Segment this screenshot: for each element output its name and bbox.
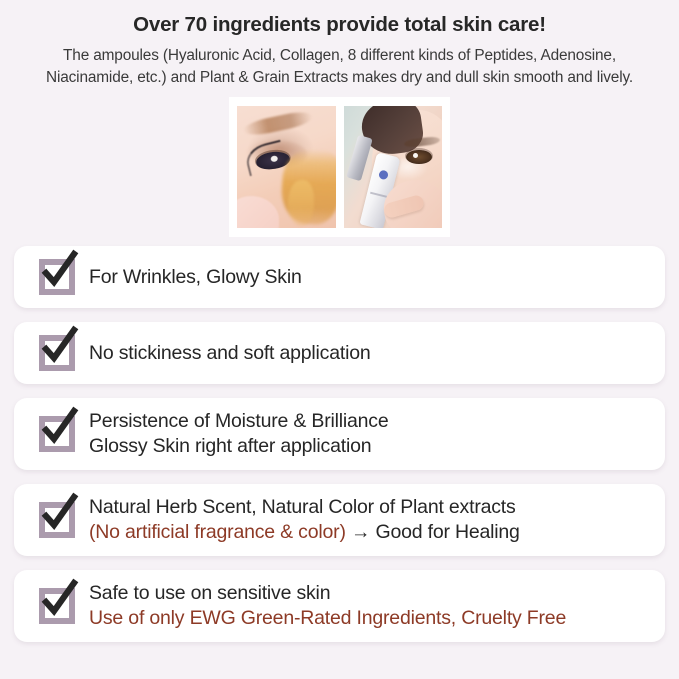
feature-line-2-accent: (No artificial fragrance & color) (89, 521, 346, 543)
feature-line-1: For Wrinkles, Glowy Skin (89, 265, 302, 290)
checkbox-checked-icon (39, 335, 75, 371)
product-photo-eye-closeup (237, 106, 336, 228)
feature-line-1: Safe to use on sensitive skin (89, 581, 566, 606)
feature-card-sensitive-skin[interactable]: Safe to use on sensitive skin Use of onl… (14, 570, 665, 642)
feature-text: Safe to use on sensitive skin Use of onl… (89, 581, 566, 631)
checkbox-checked-icon (39, 588, 75, 624)
feature-line-1: No stickiness and soft application (89, 341, 371, 366)
bottle-logo-dot (378, 169, 389, 180)
feature-line-1: Natural Herb Scent, Natural Color of Pla… (89, 495, 520, 520)
product-photo-model-applying (344, 106, 443, 228)
eyebrow-shape (242, 109, 314, 138)
subcopy-line-1: The ampoules (Hyaluronic Acid, Collagen,… (30, 45, 649, 67)
feature-text: For Wrinkles, Glowy Skin (89, 265, 302, 290)
feature-text: Persistence of Moisture & Brilliance Glo… (89, 409, 389, 459)
bottle-label-band (370, 192, 387, 198)
checkbox-checked-icon (39, 416, 75, 452)
feature-card-no-stickiness[interactable]: No stickiness and soft application (14, 322, 665, 384)
feature-line-1: Persistence of Moisture & Brilliance (89, 409, 389, 434)
feature-card-wrinkles[interactable]: For Wrinkles, Glowy Skin (14, 246, 665, 308)
header: Over 70 ingredients provide total skin c… (0, 0, 679, 89)
feature-card-natural-scent[interactable]: Natural Herb Scent, Natural Color of Pla… (14, 484, 665, 556)
subcopy-line-2: Niacinamide, etc.) and Plant & Grain Ext… (30, 67, 649, 89)
feature-line-2: Glossy Skin right after application (89, 434, 389, 459)
checkbox-checked-icon (39, 259, 75, 295)
finger-shape (237, 196, 279, 228)
feature-text: Natural Herb Scent, Natural Color of Pla… (89, 495, 520, 545)
feature-line-2: (No artificial fragrance & color) → Good… (89, 520, 520, 545)
feature-card-moisture[interactable]: Persistence of Moisture & Brilliance Glo… (14, 398, 665, 470)
product-feature-infographic: { "header": { "headline": "Over 70 ingre… (0, 0, 679, 679)
feature-line-2: Use of only EWG Green-Rated Ingredients,… (89, 606, 566, 631)
bottle-cap-shape (346, 135, 373, 181)
checkbox-checked-icon (39, 502, 75, 538)
feature-line-2-suffix: → Good for Healing (346, 521, 520, 543)
page-title: Over 70 ingredients provide total skin c… (0, 13, 679, 38)
feature-text: No stickiness and soft application (89, 341, 371, 366)
feature-list: For Wrinkles, Glowy Skin No stickiness a… (0, 246, 679, 656)
eye-shape (406, 150, 432, 164)
subcopy: The ampoules (Hyaluronic Acid, Collagen,… (0, 45, 679, 90)
serum-swatch-highlight-shape (288, 180, 314, 226)
photo-panel (229, 97, 450, 237)
